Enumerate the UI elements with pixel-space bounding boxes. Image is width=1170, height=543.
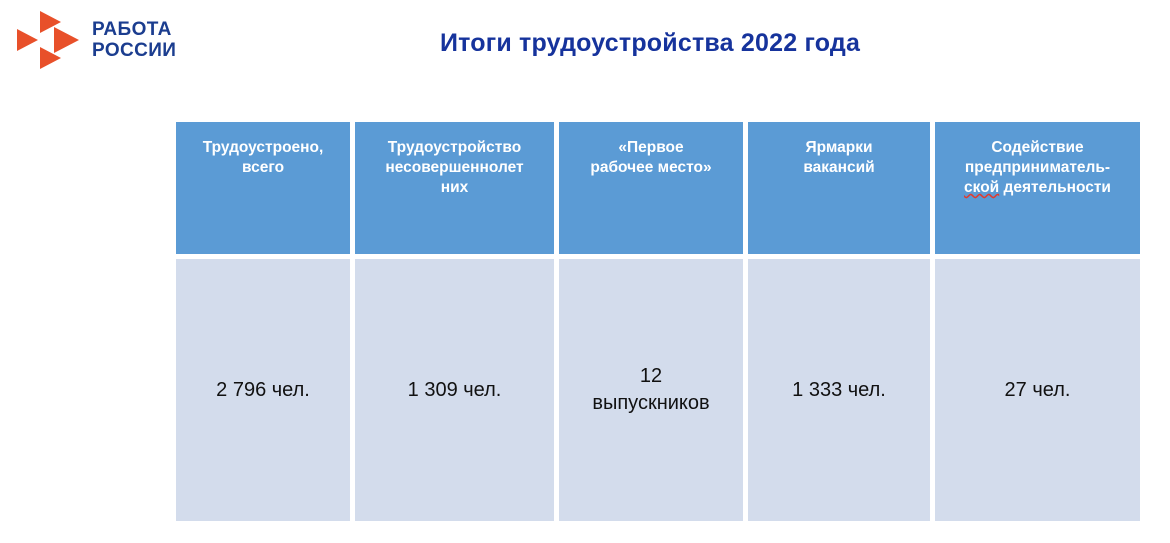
table-body-row: 2 796 чел. 1 309 чел. 12 выпускников 1 3… <box>176 259 1140 521</box>
cell-value-line: 12 <box>592 363 709 390</box>
header-line-with-spellcheck: ской деятельности <box>941 178 1134 198</box>
table-cell-total-employed-value: 2 796 чел. <box>176 259 350 521</box>
header-line: Трудоустроено, <box>182 138 344 158</box>
cell-value-line: 1 309 чел. <box>361 377 548 404</box>
logo-wordmark-line-1: РАБОТА <box>92 19 172 40</box>
table-header-cell-minors-employment: Трудоустройство несовершеннолет них <box>355 122 554 254</box>
table-cell-entrepreneurship-support-value: 27 чел. <box>935 259 1140 521</box>
header-line: «Первое <box>565 138 737 158</box>
table-header-cell-job-fairs: Ярмарки вакансий <box>748 122 930 254</box>
header-line: Содействие <box>941 138 1134 158</box>
cell-value-line: 2 796 чел. <box>182 377 344 404</box>
header-line: Трудоустройство <box>361 138 548 158</box>
table-header-cell-first-workplace: «Первое рабочее место» <box>559 122 743 254</box>
table-cell-minors-employment-value: 1 309 чел. <box>355 259 554 521</box>
header-line: всего <box>182 158 344 178</box>
spellcheck-error-text: ской <box>964 179 999 196</box>
brand-logo: РАБОТА РОССИИ <box>14 8 264 72</box>
logo-wordmark-line-2: РОССИИ <box>92 40 176 61</box>
employment-results-table: Трудоустроено, всего Трудоустройство нес… <box>176 122 1140 521</box>
table-header-cell-entrepreneurship-support: Содействие предприниматель- ской деятель… <box>935 122 1140 254</box>
slide-header: РАБОТА РОССИИ Итоги трудоустройства 2022… <box>0 0 1170 100</box>
table-cell-job-fairs-value: 1 333 чел. <box>748 259 930 521</box>
header-line-remainder: деятельности <box>999 179 1111 196</box>
header-line: предприниматель- <box>941 158 1134 178</box>
header-line: несовершеннолет <box>361 158 548 178</box>
header-line: вакансий <box>754 158 924 178</box>
cell-value-line: 27 чел. <box>941 377 1134 404</box>
table-header-row: Трудоустроено, всего Трудоустройство нес… <box>176 122 1140 254</box>
rabota-rossii-pinwheel-mark-icon <box>14 9 86 71</box>
table-cell-first-workplace-value: 12 выпускников <box>559 259 743 521</box>
table-header-cell-total-employed: Трудоустроено, всего <box>176 122 350 254</box>
header-line: них <box>361 178 548 198</box>
header-line: рабочее место» <box>565 158 737 178</box>
slide-title: Итоги трудоустройства 2022 года <box>300 28 1000 58</box>
header-line: Ярмарки <box>754 138 924 158</box>
cell-value-line: выпускников <box>592 390 709 417</box>
logo-wordmark: РАБОТА РОССИИ <box>92 19 176 61</box>
cell-value-line: 1 333 чел. <box>754 377 924 404</box>
